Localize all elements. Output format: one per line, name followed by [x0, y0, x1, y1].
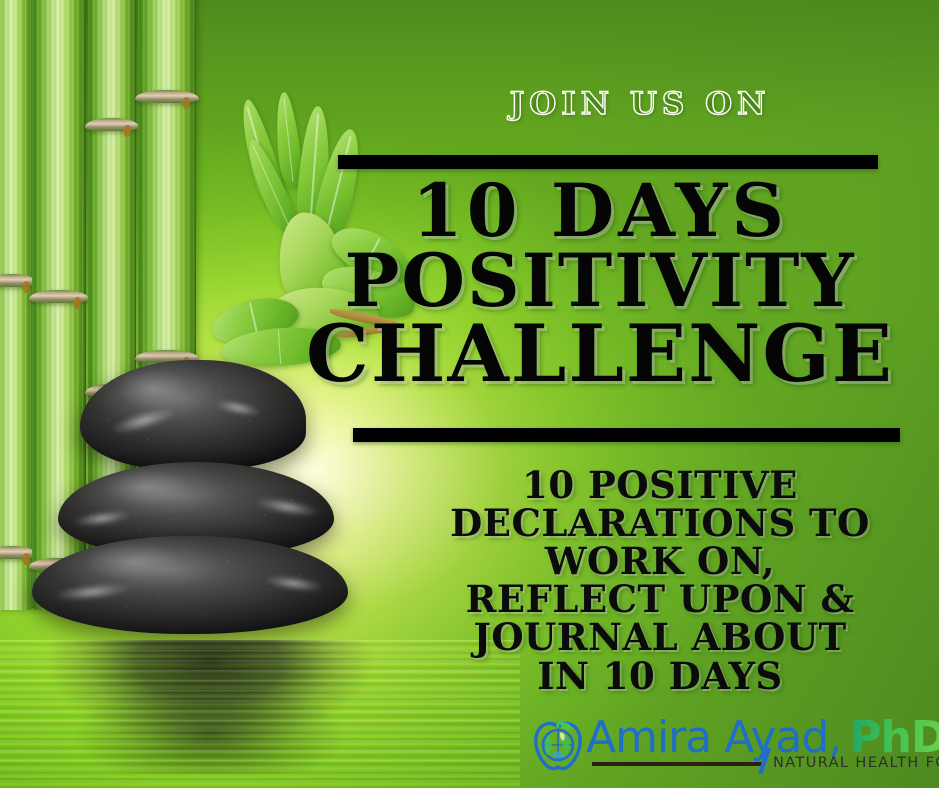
- brand-wordmark: Amira Ayad,PhD: [586, 716, 939, 760]
- description-line-1: 10 POSITIVE: [390, 466, 930, 504]
- brand-underline: [592, 762, 762, 766]
- description-line-2: DECLARATIONS TO: [390, 504, 930, 542]
- divider-bottom: [353, 428, 900, 442]
- description-line-5: JOURNAL ABOUT: [390, 618, 930, 656]
- description-line-4: REFLECT UPON &: [390, 580, 930, 618]
- apple-globe-woman-icon: [530, 720, 586, 772]
- brand-tagline: NATURAL HEALTH FOR WOMEN: [773, 755, 939, 771]
- headline-line-3: CHALLENGE: [255, 316, 939, 392]
- brand-logo[interactable]: Amira Ayad,PhD NATURAL HEALTH FOR WOMEN: [530, 718, 930, 780]
- divider-top: [338, 155, 878, 169]
- poster-content: JOIN US ON 10 DAYS POSITIVITY CHALLENGE …: [0, 0, 939, 788]
- description-line-3: WORK ON,: [390, 542, 930, 580]
- page-title: 10 DAYS POSITIVITY CHALLENGE: [255, 176, 939, 392]
- positivity-challenge-poster: JOIN US ON 10 DAYS POSITIVITY CHALLENGE …: [0, 0, 939, 788]
- description-line-6: IN 10 DAYS: [390, 657, 930, 695]
- eyebrow-label: JOIN US ON: [510, 86, 771, 122]
- headline-line-1: 10 DAYS: [255, 176, 939, 246]
- eyebrow-text: JOIN US ON: [430, 86, 850, 122]
- headline-line-2: POSITIVITY: [255, 246, 939, 316]
- description-text: 10 POSITIVE DECLARATIONS TO WORK ON, REF…: [390, 466, 930, 695]
